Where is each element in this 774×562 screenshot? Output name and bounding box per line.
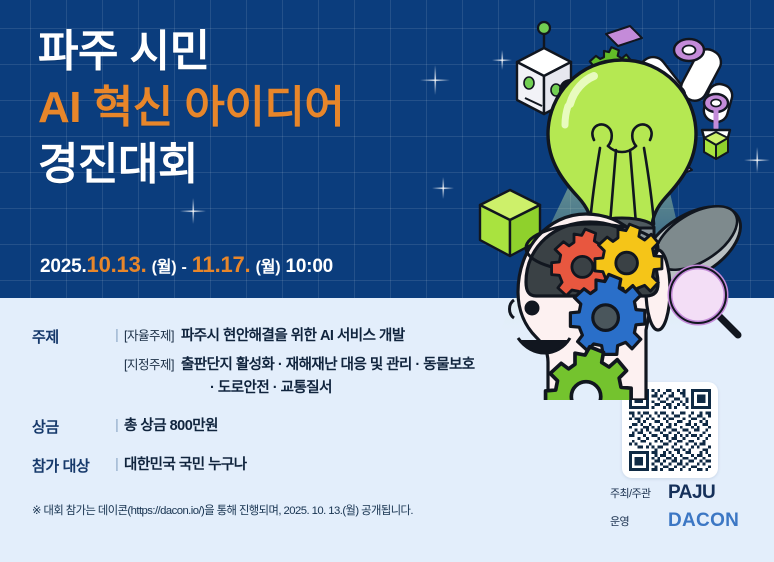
illustration [470, 0, 774, 400]
date-end-day: (월) [256, 259, 281, 276]
dacon-logo: DACON [668, 510, 739, 532]
topic-label: 주제 [32, 326, 110, 347]
topic-free-value: 파주시 현안해결을 위한 AI 서비스 개발 [181, 326, 405, 348]
date-year: 2025. [40, 256, 87, 277]
title-line-1: 파주 시민 [38, 24, 344, 80]
topic-separator: | [110, 326, 124, 342]
topic-designated-value: 출판단지 활성화 · 재해재난 대응 및 관리 · 동물보호 [181, 355, 475, 377]
operator-row: 운영 DACON [610, 510, 750, 532]
prize-value: 총 상금 800만원 [124, 416, 612, 438]
date-end: 11.17. [192, 252, 251, 277]
host-row: 주최/주관 PAJU [610, 482, 750, 504]
diamond-purple-icon [606, 26, 642, 46]
prize-label: 상금 [32, 416, 110, 437]
eligibility-value: 대한민국 국민 누구나 [124, 455, 612, 477]
operator-caption: 운영 [610, 513, 668, 529]
footnote: ※ 대회 참가는 데이콘(https://dacon.io/)을 통해 진행되며… [32, 502, 413, 518]
poster-root: 파주 시민 AI 혁신 아이디어 경진대회 2025.10.13. (월) - … [0, 0, 774, 562]
date-start: 10.13. [87, 252, 147, 277]
illustration-svg [470, 0, 774, 400]
host-caption: 주최/주관 [610, 485, 668, 501]
topic-free-tag: [자율주제] [124, 327, 174, 346]
prize-separator: | [110, 416, 124, 432]
eligibility-label: 참가 대상 [32, 455, 110, 476]
date-time: 10:00 [285, 256, 333, 277]
poster-title: 파주 시민 AI 혁신 아이디어 경진대회 [38, 24, 344, 193]
topic-designated-tag: [지정주제] [124, 356, 174, 375]
paju-logo: PAJU [668, 482, 715, 504]
date-start-day: (월) [152, 259, 177, 276]
info-row-prize: 상금 | 총 상금 800만원 [32, 416, 612, 438]
title-line-2: AI 혁신 아이디어 [38, 80, 344, 136]
logo-block: 주최/주관 PAJU 운영 DACON [610, 482, 750, 538]
event-date: 2025.10.13. (월) - 11.17. (월) 10:00 [40, 252, 333, 278]
eligibility-separator: | [110, 455, 124, 471]
date-dash: - [181, 259, 186, 276]
qr-code-svg [629, 389, 711, 471]
info-row-eligibility: 참가 대상 | 대한민국 국민 누구나 [32, 455, 612, 477]
title-line-3: 경진대회 [38, 137, 344, 193]
